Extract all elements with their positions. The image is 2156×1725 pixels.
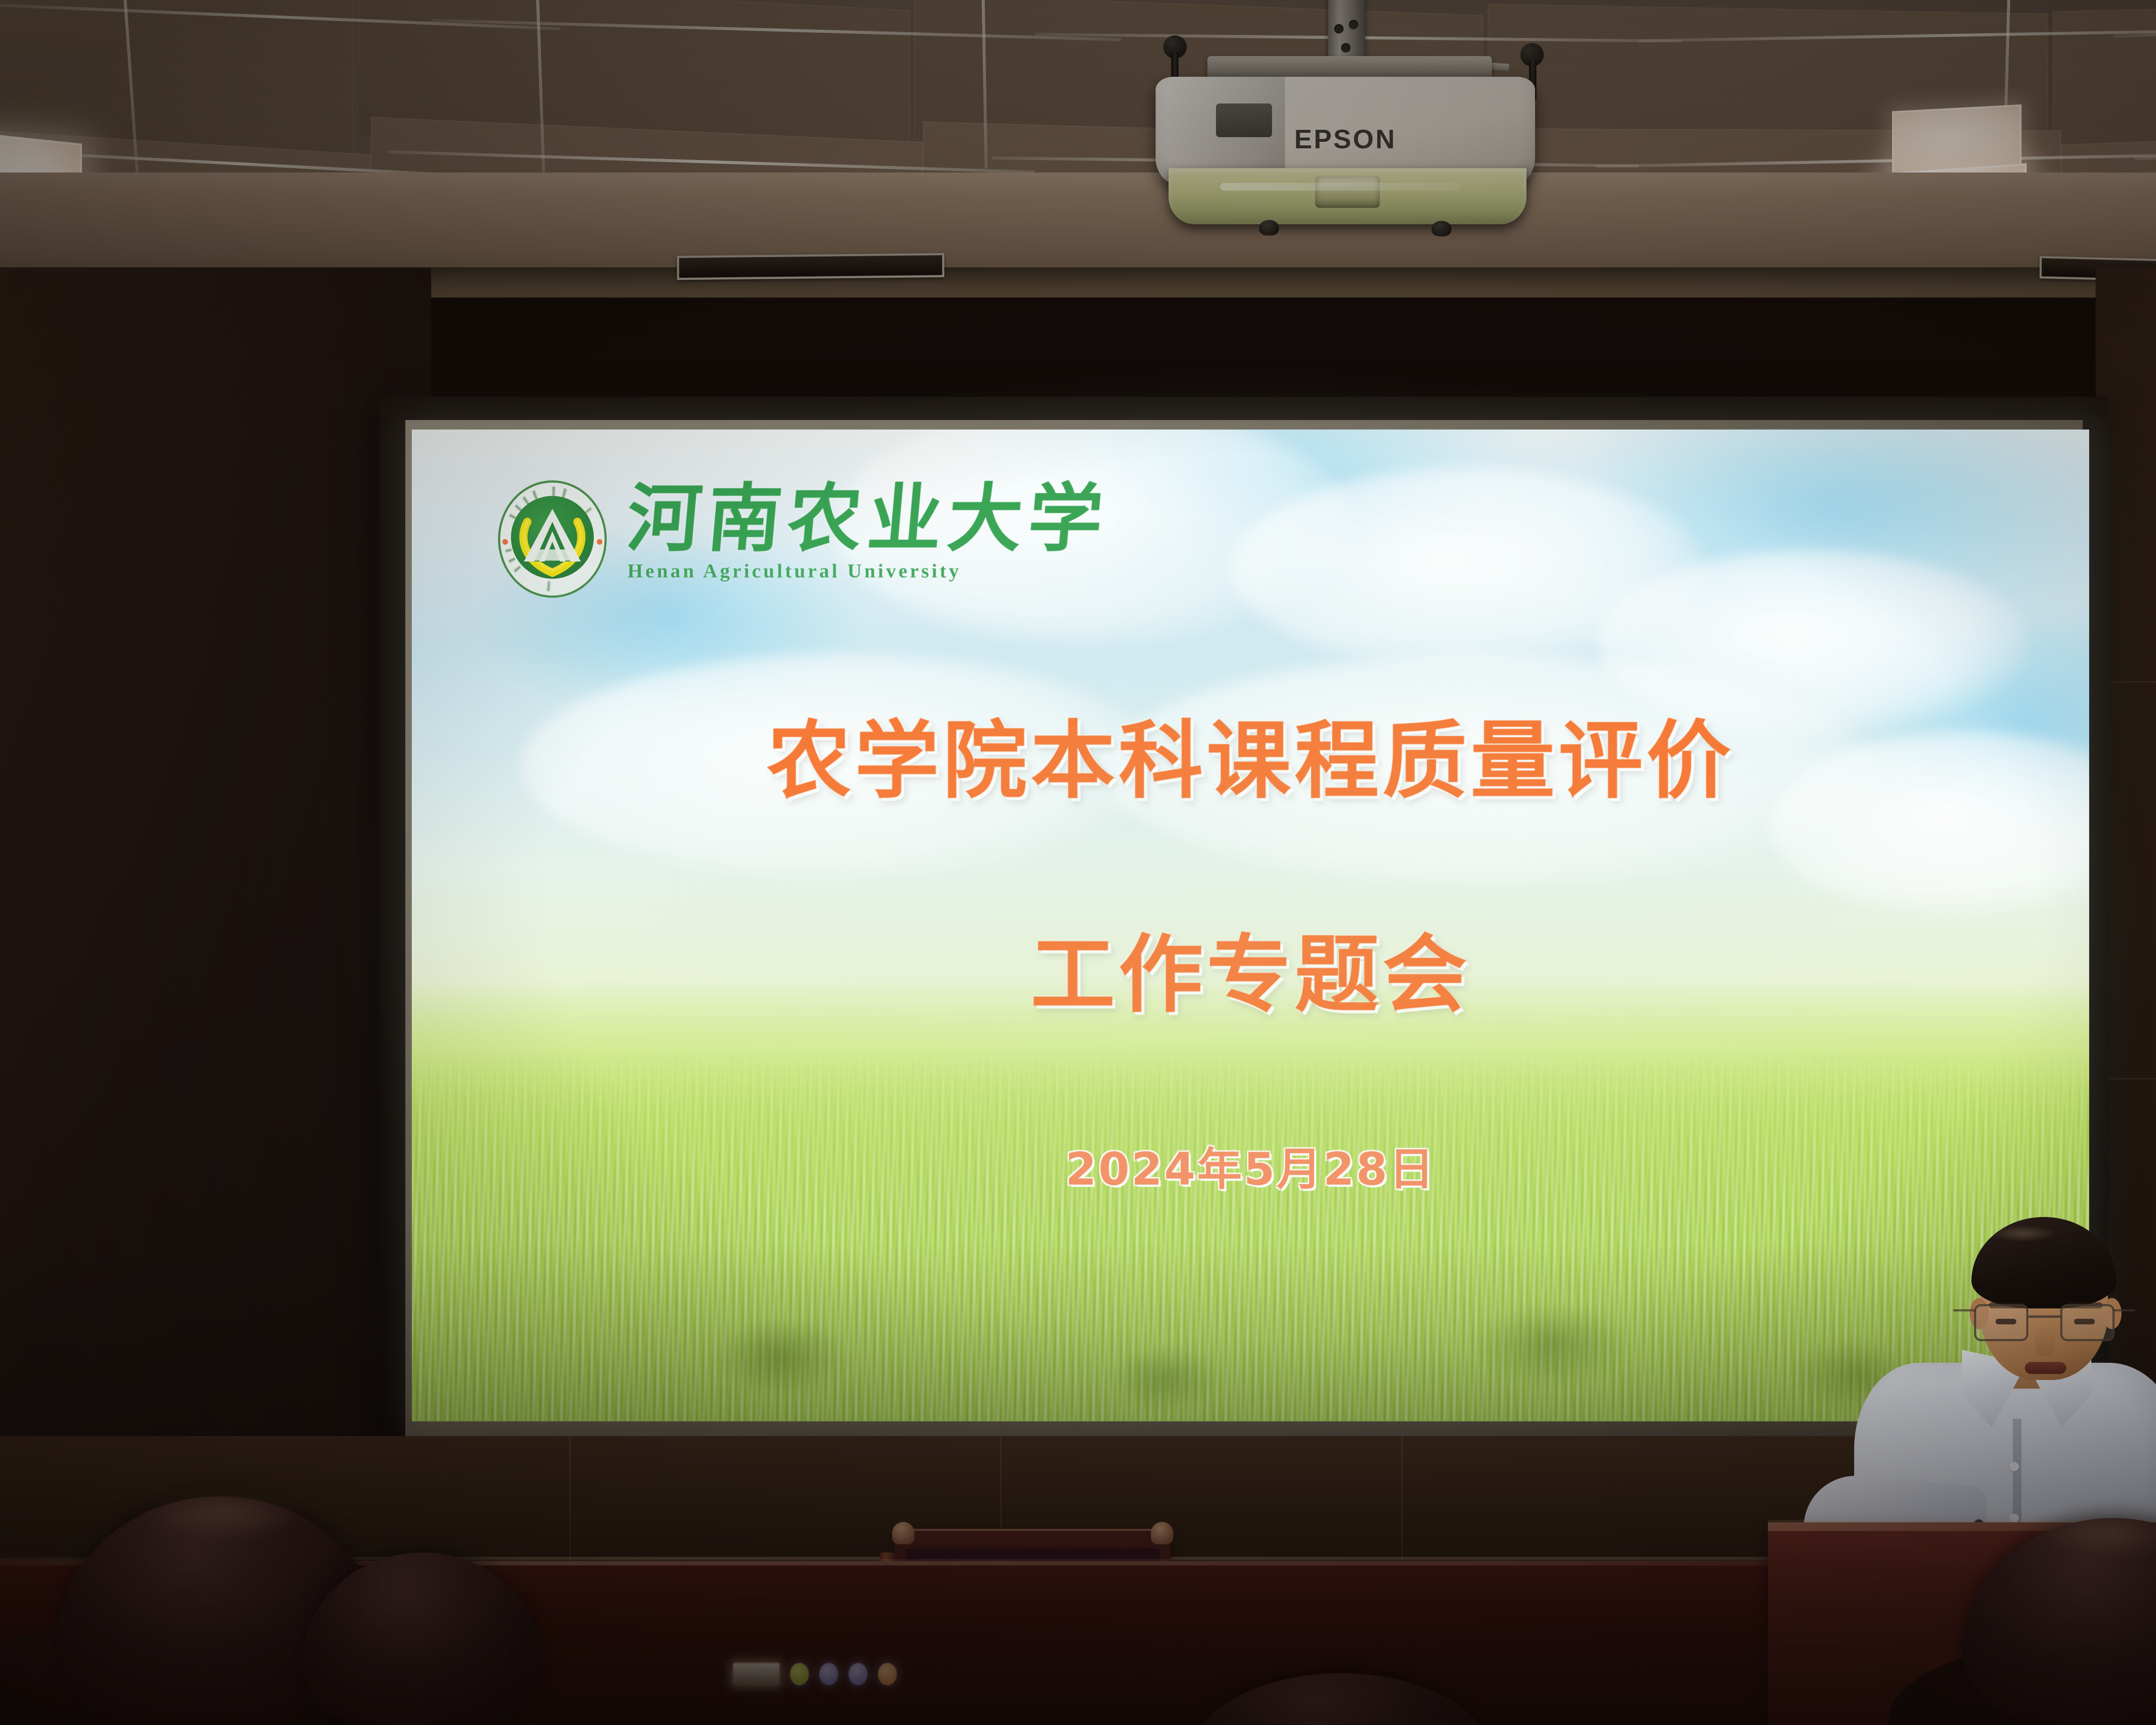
slide-title-line-1: 农学院本科课程质量评价 [412, 693, 2089, 815]
presenter-nose [2035, 1324, 2055, 1357]
control-panel-display [733, 1663, 780, 1685]
slide-institution-logo: 河南农业大学 Henan Agricultural University [498, 480, 1109, 598]
projector-mount-plate [1207, 56, 1492, 78]
presenter-mouth [2025, 1362, 2066, 1374]
projector-mount-rod [1328, 0, 1365, 65]
projector-lens-housing [1169, 168, 1526, 224]
conference-room-scene: EPSON [0, 0, 2156, 1725]
table-control-panel[interactable] [733, 1654, 918, 1694]
projector-foot [1432, 221, 1451, 236]
projector-foot [1259, 220, 1279, 235]
presenter-hair [1971, 1217, 2116, 1308]
air-vent-icon [677, 253, 944, 280]
projector-lens [1315, 176, 1380, 208]
university-name-en: Henan Agricultural University [627, 559, 1109, 582]
projector-brand-label: EPSON [1156, 124, 1535, 155]
control-panel-indicator[interactable] [819, 1663, 838, 1685]
projection-screen: 河南农业大学 Henan Agricultural University 农学院… [412, 430, 2089, 1421]
control-panel-indicator[interactable] [849, 1663, 868, 1685]
control-panel-indicator[interactable] [790, 1663, 809, 1685]
ceiling-projector: EPSON [1130, 0, 1604, 229]
university-name-cn: 河南农业大学 [624, 480, 1112, 556]
slide-field-shading [412, 1206, 2089, 1421]
slide-date: 2024年5月28日 [412, 1132, 2089, 1198]
control-panel-indicator[interactable] [878, 1663, 897, 1685]
slide-title-line-2: 工作专题会 [412, 906, 2089, 1029]
university-emblem-icon [498, 480, 607, 598]
